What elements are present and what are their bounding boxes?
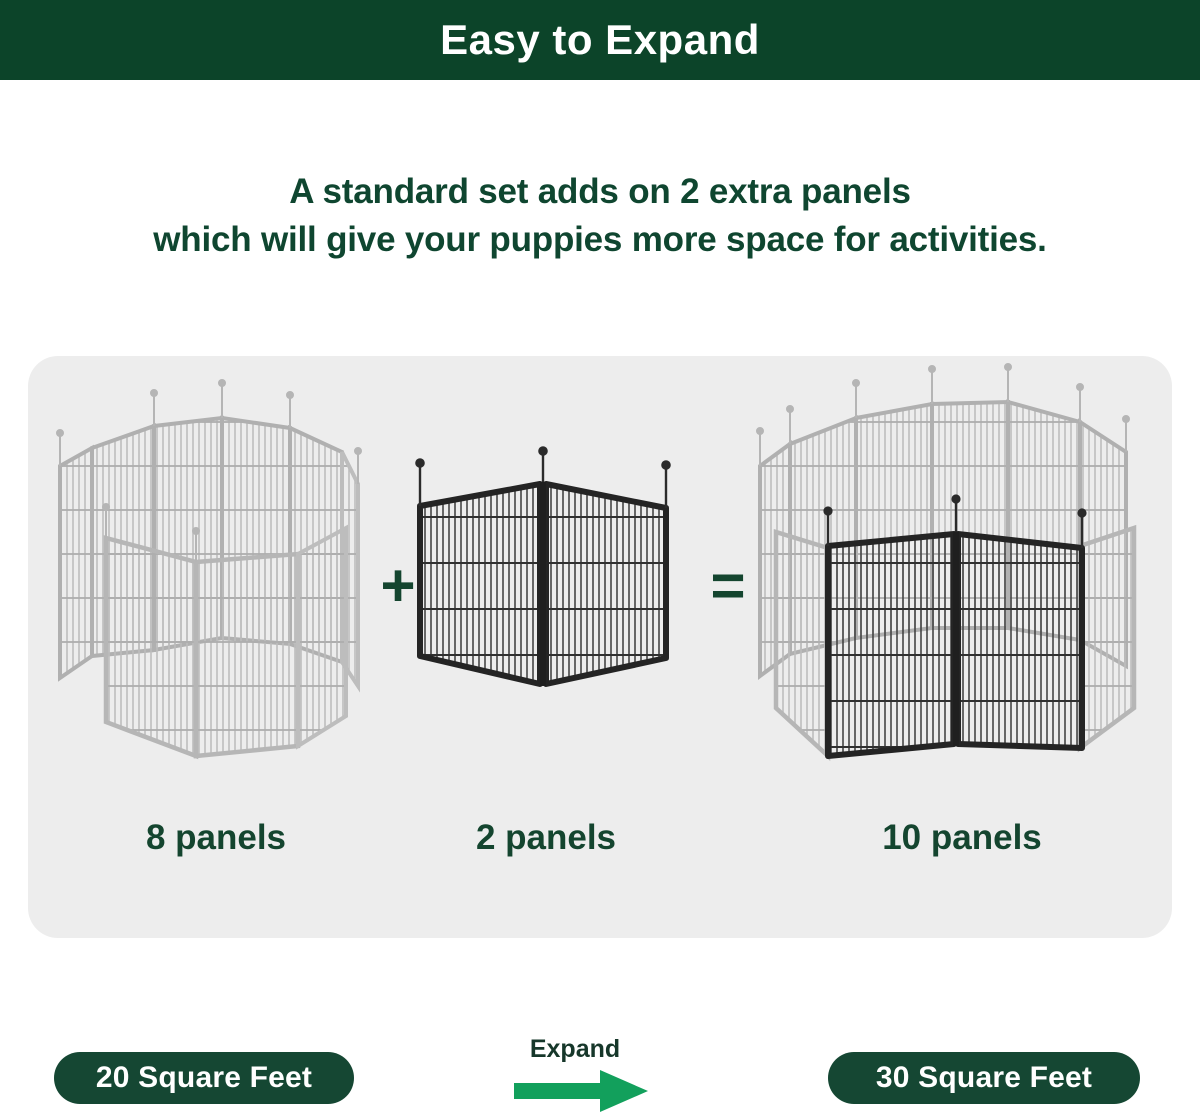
playpen-10-panels-svg	[750, 356, 1158, 816]
subtitle-block: A standard set adds on 2 extra panels wh…	[0, 168, 1200, 265]
footer-area: 20 Square Feet Expand 30 Square Feet	[0, 1036, 1200, 1118]
pens-row: +	[28, 356, 1172, 816]
panel-captions-row: 8 panels 2 panels 10 panels	[28, 818, 1172, 888]
subtitle-line-2: which will give your puppies more space …	[0, 216, 1200, 264]
expand-indicator: Expand	[500, 1036, 680, 1118]
page-title: Easy to Expand	[440, 19, 760, 61]
equals-operator-icon: =	[704, 556, 752, 616]
subtitle-line-1: A standard set adds on 2 extra panels	[0, 168, 1200, 216]
arrow-right-icon	[514, 1070, 650, 1117]
playpen-2-panels-illustration	[398, 356, 688, 816]
caption-8-panels: 8 panels	[96, 818, 336, 858]
playpen-8-panels-svg	[46, 356, 376, 816]
pen8-body	[57, 380, 361, 756]
playpen-10-panels-illustration	[750, 356, 1158, 816]
badge-30-square-feet: 30 Square Feet	[828, 1052, 1140, 1104]
header-bar: Easy to Expand	[0, 0, 1200, 80]
playpen-2-panels-svg	[398, 356, 688, 816]
expansion-diagram-card: +	[28, 356, 1172, 938]
badge-20-square-feet: 20 Square Feet	[54, 1052, 354, 1104]
playpen-8-panels-illustration	[46, 356, 376, 816]
caption-2-panels: 2 panels	[446, 818, 646, 858]
pen2-body	[416, 447, 669, 686]
expand-label: Expand	[500, 1036, 650, 1064]
caption-10-panels: 10 panels	[836, 818, 1088, 858]
